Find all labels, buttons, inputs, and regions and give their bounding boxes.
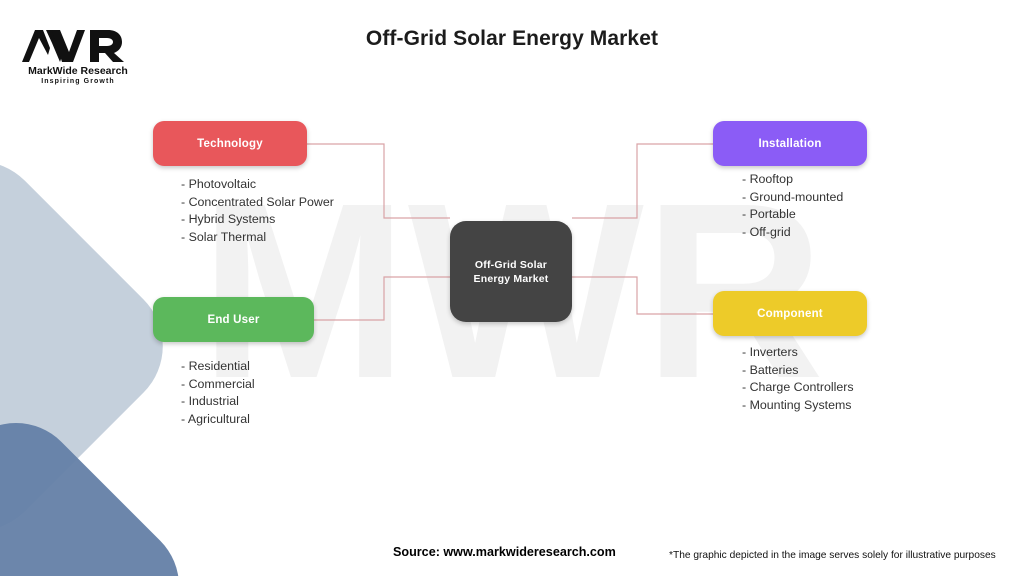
list-item: - Photovoltaic bbox=[181, 176, 334, 194]
branch-items-enduser: - Residential - Commercial - Industrial … bbox=[181, 358, 255, 428]
list-item: - Agricultural bbox=[181, 411, 255, 429]
branch-label-installation: Installation bbox=[758, 138, 821, 150]
central-node[interactable]: Off-Grid Solar Energy Market bbox=[450, 221, 572, 322]
connector-enduser bbox=[314, 277, 450, 320]
disclaimer-text: *The graphic depicted in the image serve… bbox=[669, 550, 996, 561]
infographic-canvas: MWR MarkWide Research Inspiring Growth O… bbox=[0, 0, 1024, 576]
list-item: - Charge Controllers bbox=[742, 379, 854, 397]
list-item: - Industrial bbox=[181, 393, 255, 411]
branch-label-component: Component bbox=[757, 308, 823, 320]
branch-items-installation: - Rooftop - Ground-mounted - Portable - … bbox=[742, 171, 843, 241]
branch-node-component[interactable]: Component bbox=[713, 291, 867, 336]
list-item: - Concentrated Solar Power bbox=[181, 194, 334, 212]
list-item: - Commercial bbox=[181, 376, 255, 394]
list-item: - Mounting Systems bbox=[742, 397, 854, 415]
list-item: - Portable bbox=[742, 206, 843, 224]
decorative-shape-light bbox=[0, 134, 190, 558]
decorative-shape-dark bbox=[0, 396, 206, 576]
branch-label-enduser: End User bbox=[207, 314, 259, 326]
list-item: - Off-grid bbox=[742, 224, 843, 242]
page-title: Off-Grid Solar Energy Market bbox=[0, 27, 1024, 51]
list-item: - Solar Thermal bbox=[181, 229, 334, 247]
list-item: - Residential bbox=[181, 358, 255, 376]
branch-node-enduser[interactable]: End User bbox=[153, 297, 314, 342]
central-node-label: Off-Grid Solar Energy Market bbox=[457, 258, 565, 286]
connector-installation bbox=[572, 144, 713, 218]
logo-tagline: Inspiring Growth bbox=[41, 78, 115, 85]
logo-company-name: MarkWide Research bbox=[28, 65, 128, 77]
list-item: - Rooftop bbox=[742, 171, 843, 189]
source-text: Source: www.markwideresearch.com bbox=[393, 545, 616, 559]
branch-node-technology[interactable]: Technology bbox=[153, 121, 307, 166]
branch-items-component: - Inverters - Batteries - Charge Control… bbox=[742, 344, 854, 414]
list-item: - Inverters bbox=[742, 344, 854, 362]
connector-component bbox=[572, 277, 713, 314]
list-item: - Batteries bbox=[742, 362, 854, 380]
list-item: - Hybrid Systems bbox=[181, 211, 334, 229]
list-item: - Ground-mounted bbox=[742, 189, 843, 207]
branch-label-technology: Technology bbox=[197, 138, 263, 150]
branch-node-installation[interactable]: Installation bbox=[713, 121, 867, 166]
branch-items-technology: - Photovoltaic - Concentrated Solar Powe… bbox=[181, 176, 334, 246]
